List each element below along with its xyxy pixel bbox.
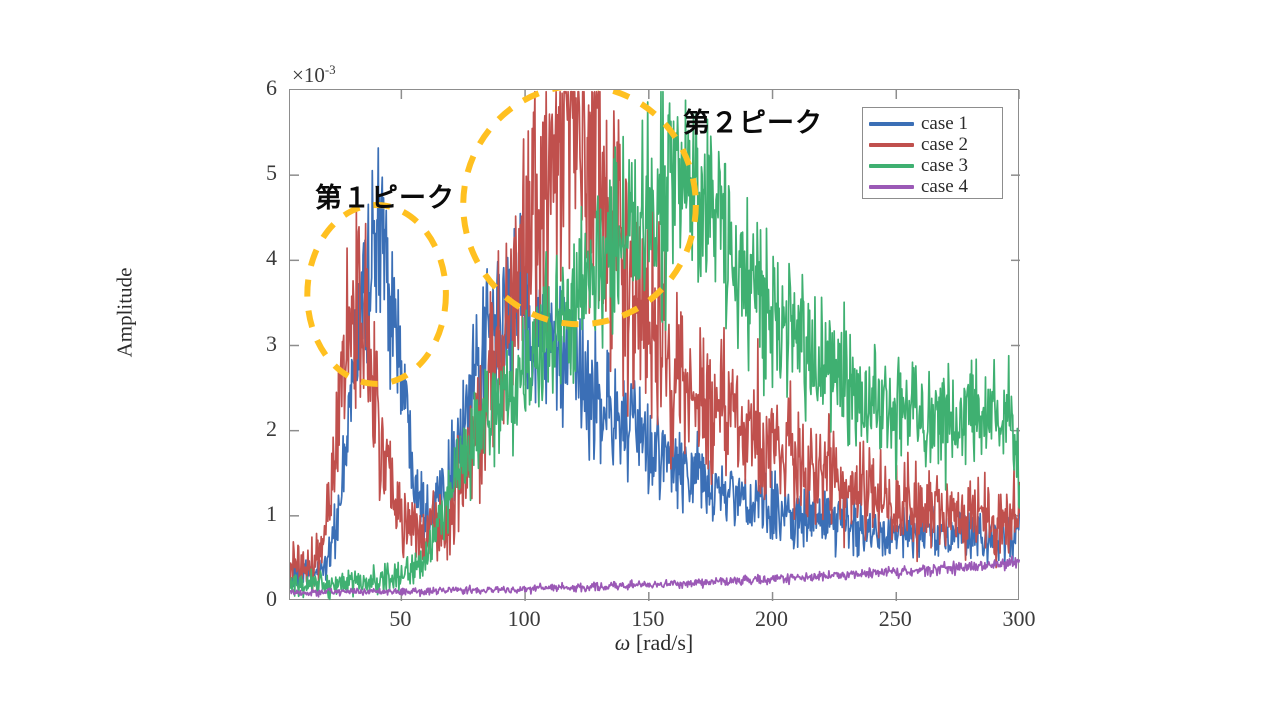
figure-canvas: ×10-3 Amplitude ω [rad/s] 65432105010015… xyxy=(0,0,1280,720)
x-tick-label-50: 50 xyxy=(365,606,435,632)
y-tick-label-0: 0 xyxy=(247,586,277,612)
x-axis-title: ω [rad/s] xyxy=(289,630,1019,656)
legend-swatch-case-2-icon xyxy=(869,143,914,147)
legend-label: case 4 xyxy=(921,177,968,196)
y-axis-exponent-power: -3 xyxy=(325,62,336,77)
annotation-peak1-label: 第１ピーク xyxy=(315,176,455,215)
legend[interactable]: case 1case 2case 3case 4 xyxy=(862,107,1003,199)
legend-label: case 2 xyxy=(921,135,968,154)
legend-swatch-case-4-icon xyxy=(869,185,914,189)
y-tick-label-3: 3 xyxy=(247,331,277,357)
legend-label: case 3 xyxy=(921,156,968,175)
y-tick-label-1: 1 xyxy=(247,501,277,527)
x-tick-label-200: 200 xyxy=(737,606,807,632)
y-axis-exponent: ×10-3 xyxy=(292,62,336,88)
legend-item-case-2[interactable]: case 2 xyxy=(869,134,996,155)
y-tick-label-4: 4 xyxy=(247,245,277,271)
legend-label: case 1 xyxy=(921,114,968,133)
y-tick-label-6: 6 xyxy=(247,75,277,101)
x-tick-label-150: 150 xyxy=(613,606,683,632)
x-tick-label-300: 300 xyxy=(984,606,1054,632)
legend-item-case-1[interactable]: case 1 xyxy=(869,113,996,134)
y-tick-label-2: 2 xyxy=(247,416,277,442)
x-axis-title-omega: ω xyxy=(615,630,631,655)
legend-item-case-3[interactable]: case 3 xyxy=(869,155,996,176)
legend-swatch-case-3-icon xyxy=(869,164,914,168)
legend-item-case-4[interactable]: case 4 xyxy=(869,176,996,197)
y-tick-label-5: 5 xyxy=(247,160,277,186)
annotation-peak2-label: 第２ピーク xyxy=(683,101,823,140)
x-tick-label-250: 250 xyxy=(860,606,930,632)
x-tick-label-100: 100 xyxy=(489,606,559,632)
y-axis-title: Amplitude xyxy=(113,183,138,443)
y-axis-exponent-prefix: ×10 xyxy=(292,63,325,87)
x-axis-title-unit: [rad/s] xyxy=(630,630,693,655)
legend-swatch-case-1-icon xyxy=(869,122,914,126)
